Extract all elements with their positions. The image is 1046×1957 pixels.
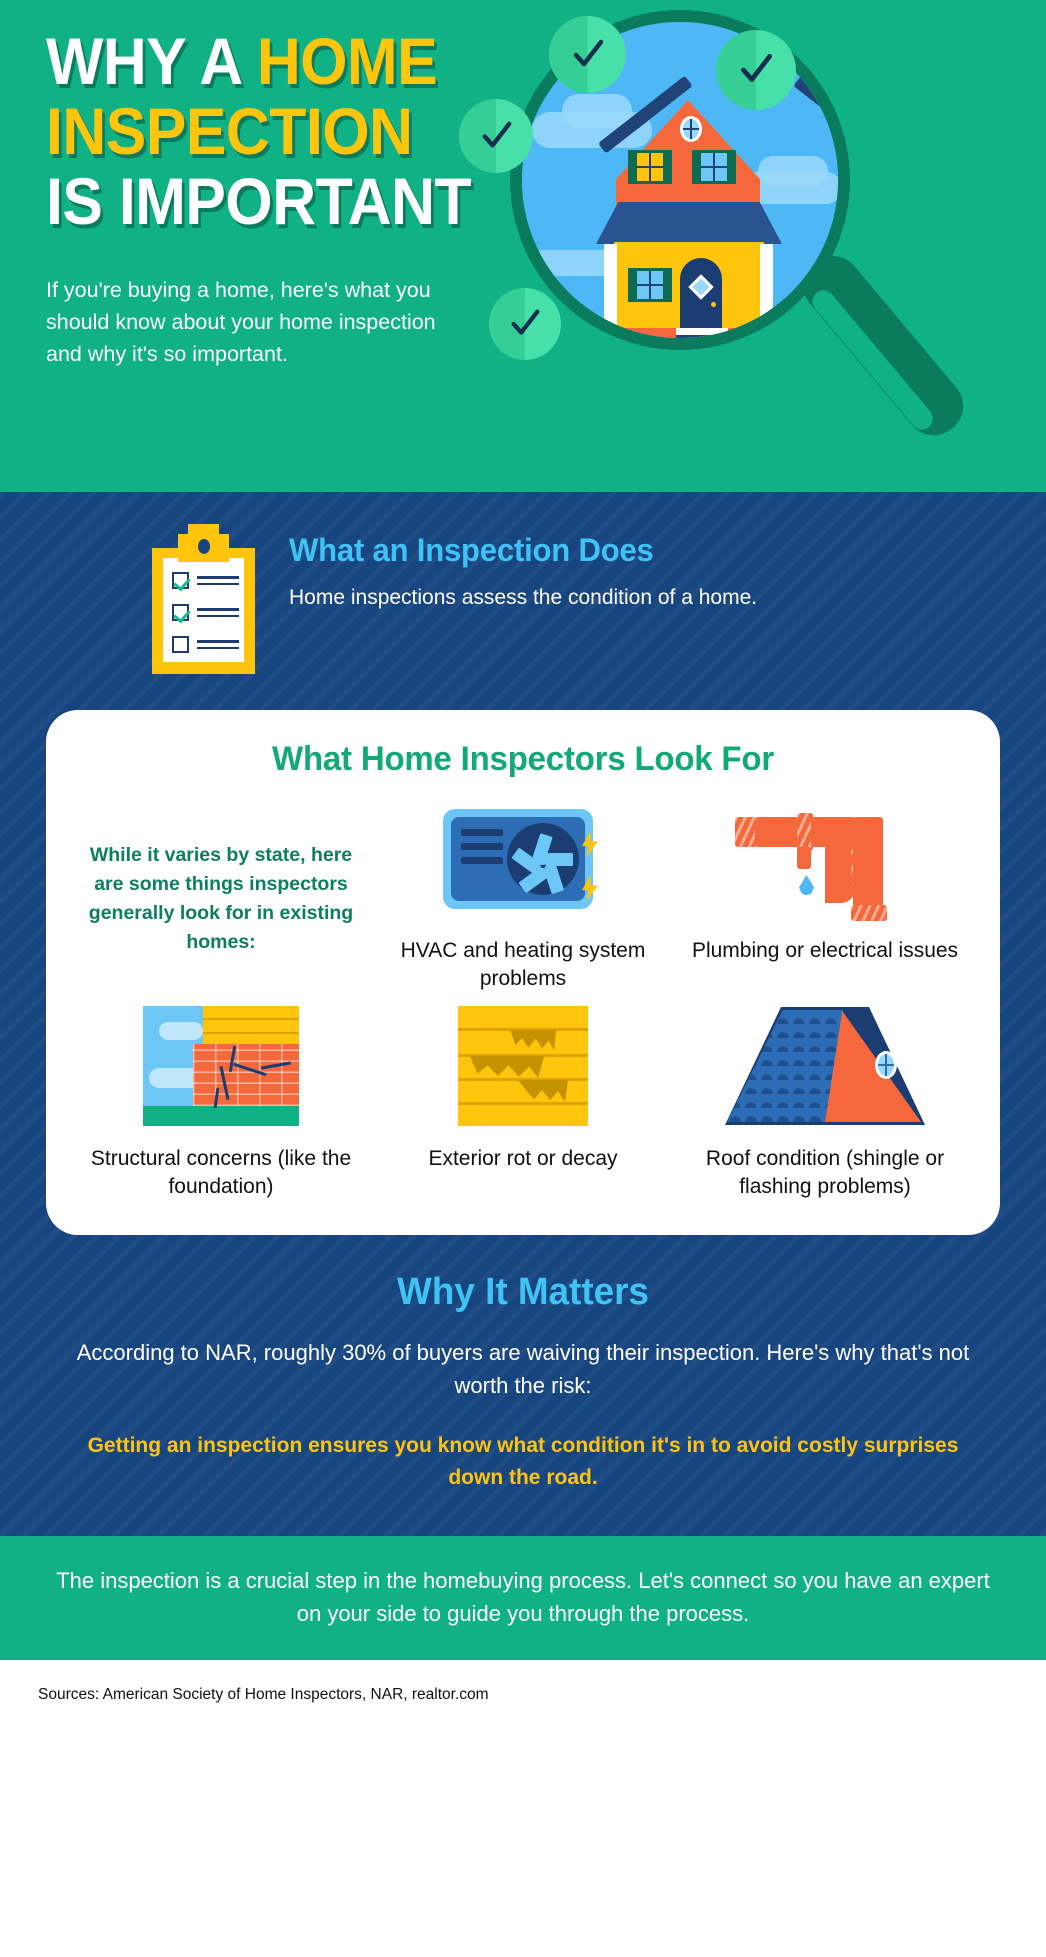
card-title: What Home Inspectors Look For bbox=[84, 740, 963, 779]
inspection-heading: What an Inspection Does bbox=[289, 532, 743, 569]
sources-note: Sources: American Society of Home Inspec… bbox=[0, 1660, 1046, 1724]
look-for-intro: While it varies by state, here are some … bbox=[70, 805, 372, 993]
siding-rot-icon bbox=[458, 1006, 588, 1126]
lower-window bbox=[628, 268, 672, 302]
roof-icon bbox=[725, 1007, 925, 1125]
attic-round-window-icon bbox=[680, 116, 702, 142]
item-roof: Roof condition (shingle or flashing prob… bbox=[674, 999, 976, 1201]
porch-column-left bbox=[604, 244, 617, 332]
why-it-matters-title: Why It Matters bbox=[84, 1271, 963, 1314]
why-it-matters-section: Why It Matters According to NAR, roughly… bbox=[0, 1235, 1046, 1536]
item-label: Roof condition (shingle or flashing prob… bbox=[680, 1145, 970, 1201]
check-icon bbox=[735, 49, 777, 91]
check-icon bbox=[506, 305, 544, 343]
checklist-checkbox-3 bbox=[172, 636, 189, 653]
foundation-icon bbox=[143, 1006, 299, 1126]
hero-section: WHY A HOME INSPECTION IS IMPORTANT If yo… bbox=[0, 0, 1046, 492]
hero-subtitle: If you're buying a home, here's what you… bbox=[46, 274, 476, 370]
water-drop-icon bbox=[799, 875, 814, 895]
item-exterior-rot: Exterior rot or decay bbox=[372, 999, 674, 1201]
porch-column-right bbox=[760, 244, 773, 332]
inspectors-look-for-card: What Home Inspectors Look For While it v… bbox=[46, 710, 1000, 1235]
item-plumbing: Plumbing or electrical issues bbox=[674, 805, 976, 993]
why-it-matters-body: According to NAR, roughly 30% of buyers … bbox=[70, 1336, 976, 1402]
hvac-icon bbox=[443, 809, 603, 921]
pipe-icon bbox=[735, 809, 915, 921]
front-door bbox=[680, 258, 722, 330]
item-label: HVAC and heating system problems bbox=[378, 937, 668, 993]
front-steps bbox=[676, 328, 728, 338]
item-hvac: HVAC and heating system problems bbox=[372, 805, 674, 993]
house-illustration bbox=[588, 82, 788, 332]
roof-round-window-icon bbox=[875, 1051, 897, 1079]
infographic-page: WHY A HOME INSPECTION IS IMPORTANT If yo… bbox=[0, 0, 1046, 1957]
title-line-3: IS IMPORTANT bbox=[46, 166, 478, 236]
title-line-2: INSPECTION bbox=[46, 96, 478, 166]
upper-window-right bbox=[692, 150, 736, 184]
inspection-body: Home inspections assess the condition of… bbox=[289, 583, 757, 613]
item-label: Plumbing or electrical issues bbox=[692, 937, 958, 965]
clipboard-icon bbox=[152, 524, 255, 674]
item-label: Structural concerns (like the foundation… bbox=[76, 1145, 366, 1201]
item-structural: Structural concerns (like the foundation… bbox=[70, 999, 372, 1201]
inspection-items-grid: While it varies by state, here are some … bbox=[70, 805, 976, 1201]
upper-window-left bbox=[628, 150, 672, 184]
checklist-checkbox-1 bbox=[172, 572, 189, 589]
door-diamond-window-icon bbox=[688, 274, 713, 299]
check-bubble-2 bbox=[716, 30, 796, 110]
navy-section: What an Inspection Does Home inspections… bbox=[0, 492, 1046, 1536]
what-an-inspection-does-row: What an Inspection Does Home inspections… bbox=[0, 492, 1046, 674]
check-icon bbox=[568, 35, 608, 75]
title-line-2-yellow: INSPECTION bbox=[46, 94, 413, 168]
inspection-text-block: What an Inspection Does Home inspections… bbox=[289, 518, 757, 613]
title-line-3-white: IS IMPORTANT bbox=[46, 164, 471, 238]
title-line-1-white: WHY A bbox=[46, 24, 257, 98]
door-knob-icon bbox=[711, 302, 716, 307]
porch-roof bbox=[596, 202, 782, 244]
item-label: Exterior rot or decay bbox=[428, 1145, 617, 1173]
checklist-checkbox-2 bbox=[172, 604, 189, 621]
page-title: WHY A HOME INSPECTION IS IMPORTANT bbox=[46, 26, 516, 236]
check-bubble-4 bbox=[489, 288, 561, 360]
title-line-1-yellow: HOME bbox=[257, 24, 437, 98]
check-bubble-1 bbox=[549, 16, 626, 93]
why-it-matters-highlight: Getting an inspection ensures you know w… bbox=[70, 1430, 976, 1494]
title-line-1: WHY A HOME bbox=[46, 26, 478, 96]
cta-banner: The inspection is a crucial step in the … bbox=[0, 1536, 1046, 1660]
